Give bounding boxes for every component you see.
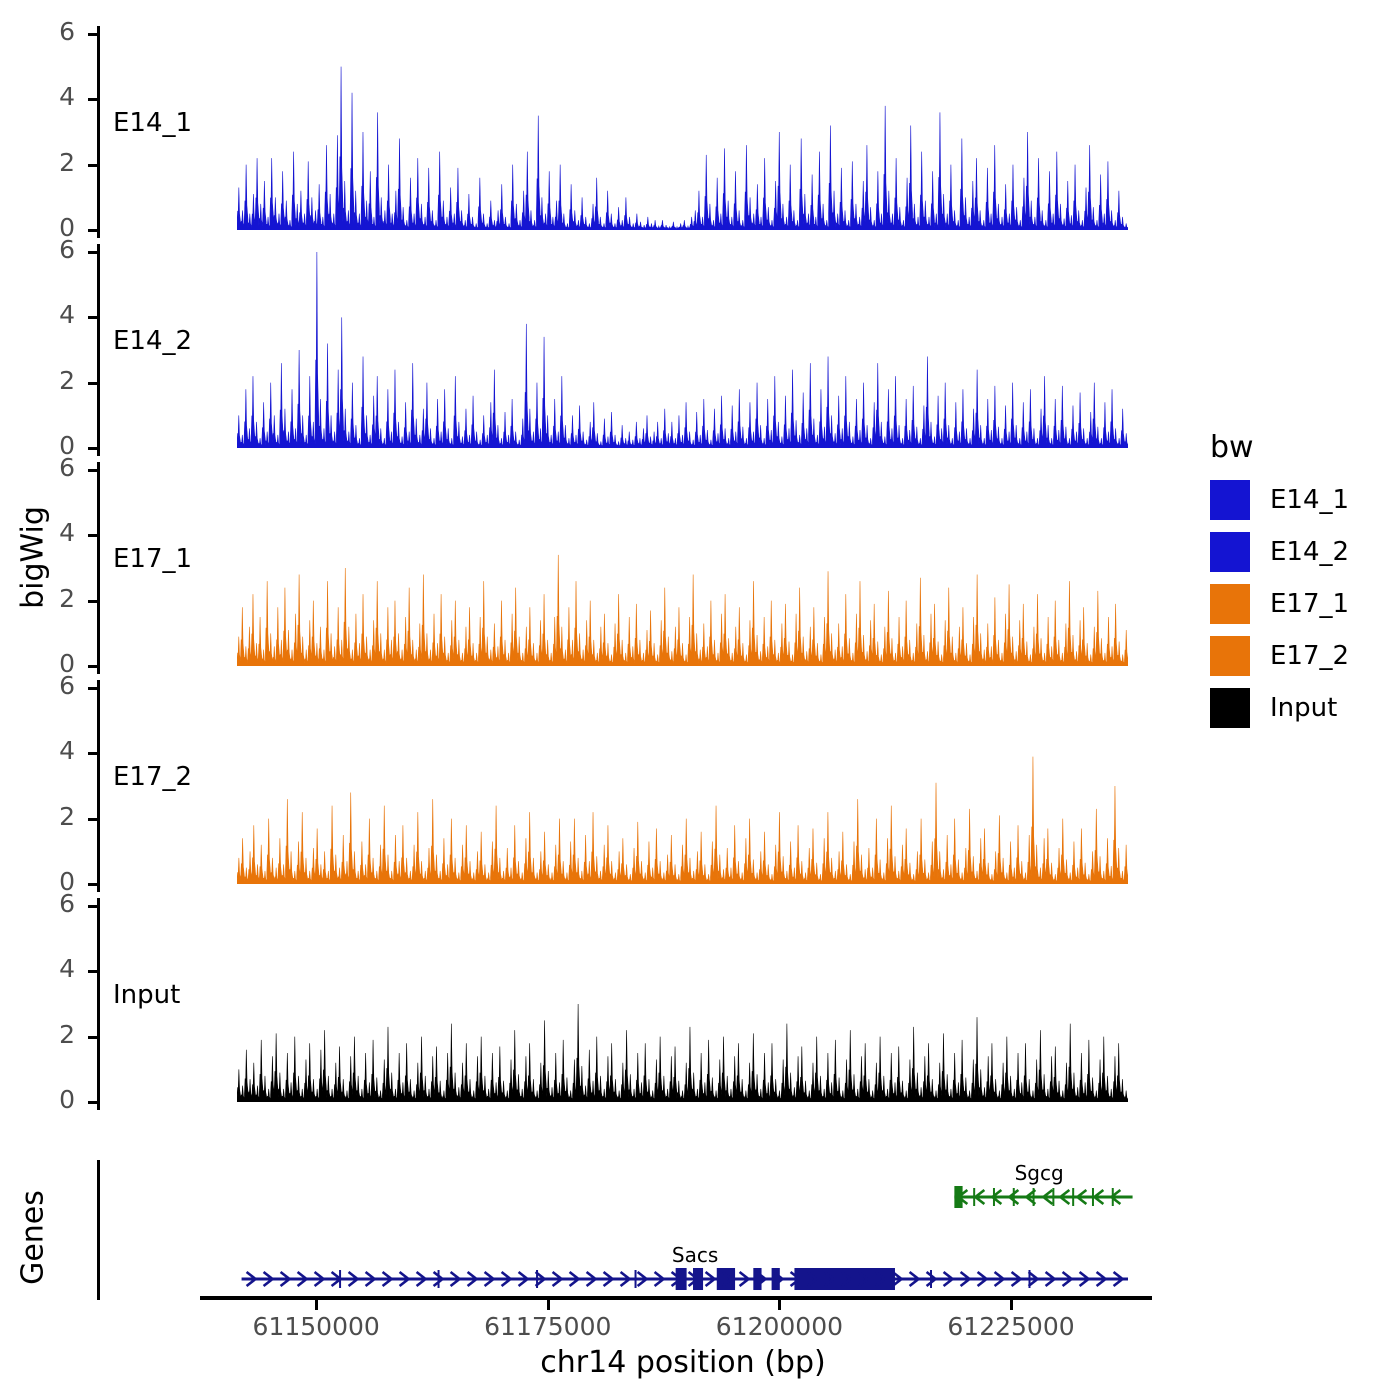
- legend-swatch-E17_1: [1210, 584, 1250, 624]
- legend-label-E14_1: E14_1: [1270, 485, 1349, 515]
- x-tick-label: 61150000: [236, 1312, 396, 1341]
- legend-swatch-E14_2: [1210, 532, 1250, 572]
- gene-label-Sgcg: Sgcg: [1015, 1161, 1064, 1185]
- x-tick-label: 61175000: [468, 1312, 628, 1341]
- figure-root: bigWig Genes 0246E14_10246E14_20246E17_1…: [0, 0, 1400, 1400]
- legend-item-E17_1[interactable]: E17_1: [1210, 584, 1349, 624]
- legend-label-E17_2: E17_2: [1270, 641, 1349, 671]
- legend-label-E14_2: E14_2: [1270, 537, 1349, 567]
- legend-item-Input[interactable]: Input: [1210, 688, 1337, 728]
- legend-label-E17_1: E17_1: [1270, 589, 1349, 619]
- x-axis-title: chr14 position (bp): [418, 1345, 948, 1380]
- gene-track-panel: SgcgSacs: [0, 0, 1400, 1400]
- legend-label-Input: Input: [1270, 693, 1337, 723]
- legend-title: bw: [1210, 430, 1254, 465]
- legend-item-E17_2[interactable]: E17_2: [1210, 636, 1349, 676]
- x-tick-mark: [315, 1300, 318, 1310]
- x-tick-label: 61200000: [699, 1312, 859, 1341]
- legend-swatch-Input: [1210, 688, 1250, 728]
- legend-swatch-E14_1: [1210, 480, 1250, 520]
- legend-swatch-E17_2: [1210, 636, 1250, 676]
- x-tick-mark: [778, 1300, 781, 1310]
- x-tick-mark: [1010, 1300, 1013, 1310]
- x-tick-mark: [547, 1300, 550, 1310]
- gene-label-Sacs: Sacs: [672, 1243, 718, 1267]
- x-tick-label: 61225000: [931, 1312, 1091, 1341]
- legend-item-E14_2[interactable]: E14_2: [1210, 532, 1349, 572]
- legend-item-E14_1[interactable]: E14_1: [1210, 480, 1349, 520]
